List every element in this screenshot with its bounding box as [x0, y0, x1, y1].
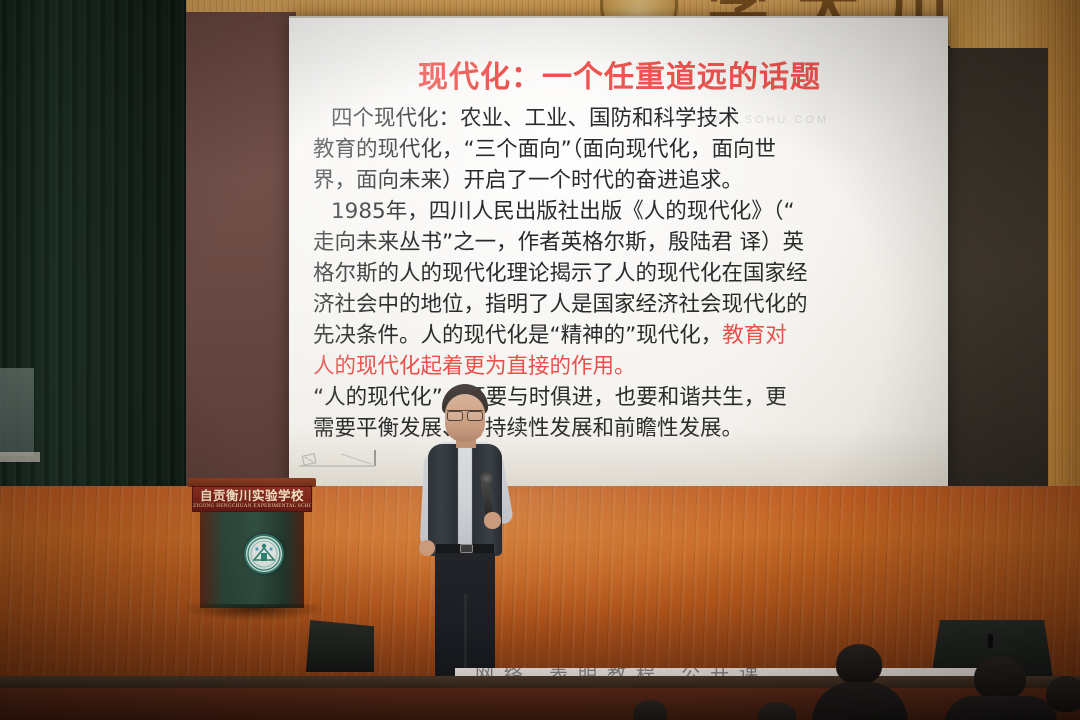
- slide-paragraph-7: 济社会中的地位，指明了人是国家经济社会现代化的: [313, 290, 926, 320]
- slide-run: 界，面向未来）开启了一个时代的奋进追求。: [313, 168, 743, 193]
- left-maroon-panel: [184, 12, 296, 492]
- slide-run-highlight: 人的现代化起着更为直接的作用。: [313, 354, 636, 379]
- podium: 自贡衡川实验学校 ZIGONG HENGCHUAN EXPERIMENTAL S…: [192, 478, 312, 618]
- stage-monitor-left: [306, 620, 374, 672]
- slide-run: 走向未来丛书”之一，作者英格尔斯，殷陆君 译）英: [313, 230, 804, 255]
- audience-shoulders: [944, 696, 1058, 720]
- slide-paragraph-4: 1985年，四川人民出版社出版《人的现代化》（“: [313, 197, 926, 227]
- slide-paragraph-3: 界，面向未来）开启了一个时代的奋进追求。: [313, 166, 926, 196]
- school-emblem-icon: [244, 534, 284, 574]
- right-dark-panel: [945, 48, 1048, 486]
- slide-run: 1985年，四川人民出版社出版《人的现代化》（“: [331, 199, 795, 224]
- projection-screen: 现代化：一个任重道远的话题 四个现代化：农业、工业、国防和科学技术 教育的现代化…: [289, 16, 948, 488]
- lecture-hall-scene: 学 大 川 衡 现代化：一个任重道远的话题 四个现代化：农业、工业、国防和科学技…: [0, 0, 1080, 720]
- slide-run: 格尔斯的人的现代化理论揭示了人的现代化在国家经: [313, 261, 808, 286]
- side-whiteboard: [0, 368, 34, 456]
- slide-title: 现代化：一个任重道远的话题: [313, 52, 926, 96]
- slide-run: 先决条件。人的现代化是“精神的”现代化，: [313, 323, 722, 348]
- slide-paragraph-2: 教育的现代化，“三个面向”（面向现代化，面向世: [313, 135, 926, 165]
- audience-head: [1046, 676, 1080, 712]
- slide-paragraph-5: 走向未来丛书”之一，作者英格尔斯，殷陆君 译）英: [313, 228, 926, 258]
- speaker-left-hand: [419, 540, 435, 556]
- speaker-person: [398, 384, 530, 696]
- side-whiteboard-base: [0, 452, 40, 462]
- audience-head: [836, 644, 882, 684]
- stage-floor: [0, 486, 1080, 686]
- slide-paragraph-6: 格尔斯的人的现代化理论揭示了人的现代化在国家经: [313, 259, 926, 289]
- slide-run: 教育的现代化，“三个面向”（面向现代化，面向世: [313, 137, 776, 162]
- slide-run-highlight: 教育对: [722, 323, 787, 348]
- slide-run: 四个现代化：农业、工业、国防和科学技术: [331, 106, 740, 131]
- projection-screen-content: 现代化：一个任重道远的话题 四个现代化：农业、工业、国防和科学技术 教育的现代化…: [289, 18, 948, 488]
- podium-nameplate-en: ZIGONG HENGCHUAN EXPERIMENTAL SCHOOL: [193, 503, 311, 510]
- audience-head: [974, 656, 1026, 700]
- slide-run: “人的现代化”，既要与时俱进，也要和谐共生，更: [313, 385, 787, 410]
- slide-paragraph-8: 先决条件。人的现代化是“精神的”现代化，教育对: [313, 321, 926, 351]
- slide-paragraph-1: 四个现代化：农业、工业、国防和科学技术: [313, 104, 926, 134]
- slide-paragraph-9: 人的现代化起着更为直接的作用。: [313, 352, 926, 382]
- speaker-right-hand: [484, 512, 501, 529]
- podium-shadow: [186, 604, 322, 620]
- podium-nameplate: 自贡衡川实验学校 ZIGONG HENGCHUAN EXPERIMENTAL S…: [192, 486, 312, 512]
- slide-run: 济社会中的地位，指明了人是国家经济社会现代化的: [313, 292, 808, 317]
- podium-body: [200, 512, 304, 608]
- glasses-icon: [447, 410, 483, 418]
- stage-monitor-right-port: [988, 634, 993, 648]
- slide-corner-logo-icon: [297, 446, 407, 472]
- speaker-belt-buckle: [460, 544, 473, 553]
- podium-nameplate-cn: 自贡衡川实验学校: [193, 488, 311, 503]
- hall-front-row-area: [0, 688, 1080, 720]
- audience-head: [633, 700, 667, 720]
